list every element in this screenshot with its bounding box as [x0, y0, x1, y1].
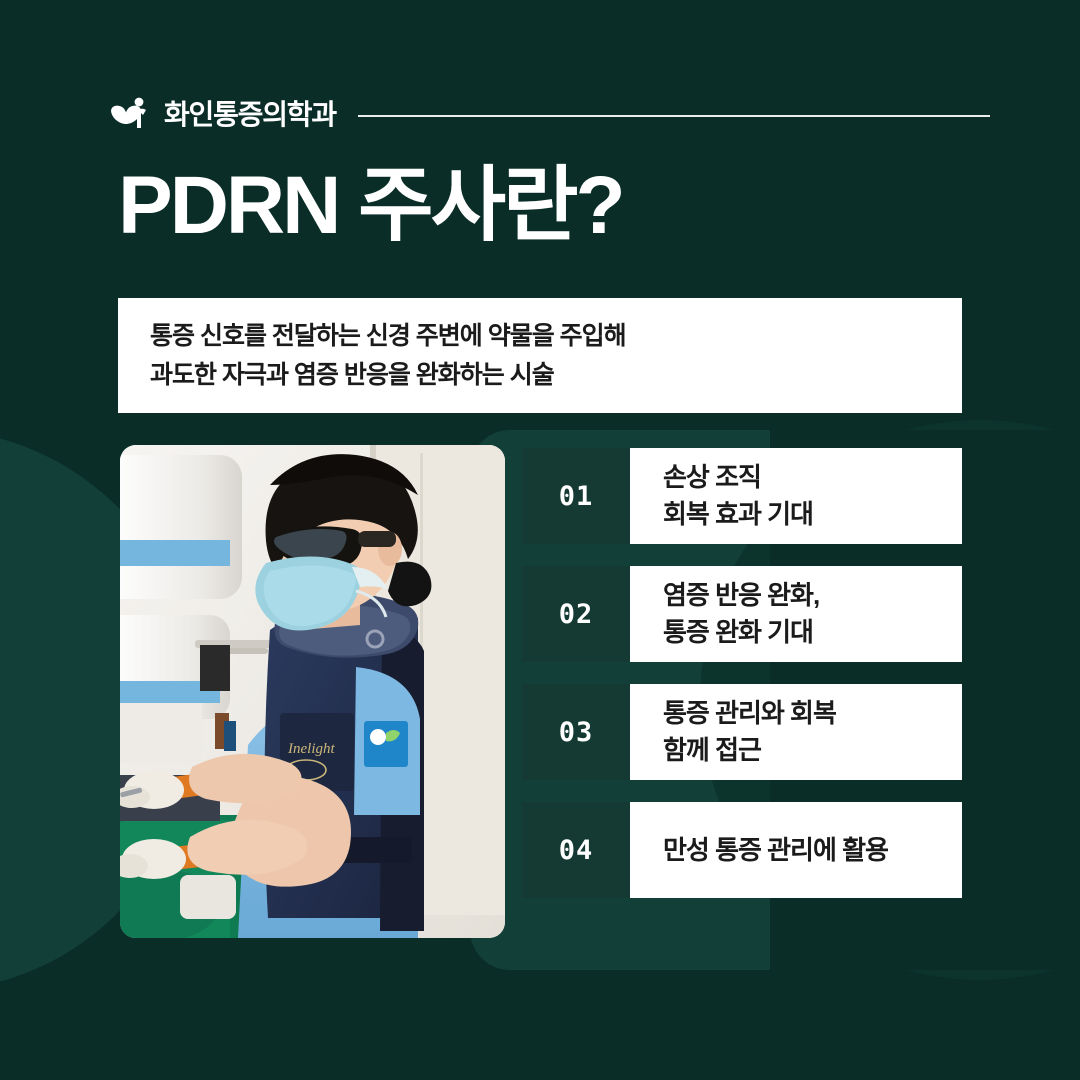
- header-divider: [358, 115, 990, 117]
- benefit-list: 01 손상 조직 회복 효과 기대 02 염증 반응 완화, 통증 완화 기대 …: [522, 448, 962, 898]
- benefit-line-02-1: 염증 반응 완화,: [663, 577, 962, 614]
- benefit-item-04[interactable]: 04 만성 통증 관리에 활용: [522, 802, 962, 898]
- benefit-number-02: 02: [522, 566, 630, 662]
- benefit-line-03-2: 함께 접근: [663, 732, 962, 769]
- benefit-item-03[interactable]: 03 통증 관리와 회복 함께 접근: [522, 684, 962, 780]
- svg-text:Inelight: Inelight: [287, 741, 335, 757]
- benefit-number-01: 01: [522, 448, 630, 544]
- clinic-name-text: 화인통증의학과: [164, 101, 336, 129]
- benefit-number-04: 04: [522, 802, 630, 898]
- benefit-line-04-1: 만성 통증 관리에 활용: [663, 832, 962, 869]
- clinic-photo: Inelight: [120, 445, 505, 938]
- benefit-line-02-2: 통증 완화 기대: [663, 614, 962, 651]
- benefit-line-01-2: 회복 효과 기대: [663, 496, 962, 533]
- description-panel: 통증 신호를 전달하는 신경 주변에 약물을 주입해 과도한 자극과 염증 반응…: [118, 298, 962, 413]
- clinic-logo[interactable]: 화인통증의학과: [110, 97, 336, 133]
- benefit-item-02[interactable]: 02 염증 반응 완화, 통증 완화 기대: [522, 566, 962, 662]
- benefit-text-03: 통증 관리와 회복 함께 접근: [630, 684, 962, 780]
- benefit-text-02: 염증 반응 완화, 통증 완화 기대: [630, 566, 962, 662]
- benefit-item-01[interactable]: 01 손상 조직 회복 효과 기대: [522, 448, 962, 544]
- benefit-text-04: 만성 통증 관리에 활용: [630, 802, 962, 898]
- clinic-photo-image: Inelight: [120, 445, 505, 938]
- benefit-line-03-1: 통증 관리와 회복: [663, 695, 962, 732]
- header-bar: 화인통증의학과: [110, 92, 990, 138]
- benefit-number-03: 03: [522, 684, 630, 780]
- leaf-person-logo-icon: [110, 97, 156, 133]
- description-line-2: 과도한 자극과 염증 반응을 완화하는 시술: [150, 356, 962, 395]
- benefit-line-01-1: 손상 조직: [663, 459, 962, 496]
- page-title: PDRN 주사란?: [118, 163, 623, 249]
- promo-card: 화인통증의학과 PDRN 주사란? 통증 신호를 전달하는 신경 주변에 약물을…: [0, 0, 1080, 1080]
- benefit-text-01: 손상 조직 회복 효과 기대: [630, 448, 962, 544]
- description-line-1: 통증 신호를 전달하는 신경 주변에 약물을 주입해: [150, 317, 962, 356]
